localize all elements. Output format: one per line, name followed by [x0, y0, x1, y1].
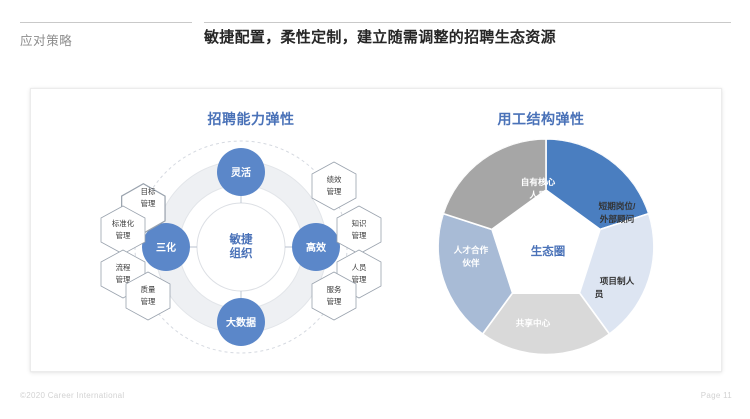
segment-talent-partner-label-2: 伙伴 — [462, 257, 480, 268]
agility-capability-diagram: 敏捷 组织 灵活 高效 大数据 三化 目标 管理 标准化 管理 — [86, 131, 396, 363]
content-card: 招聘能力弹性 用工结构弹性 敏捷 组织 灵活 高效 大数据 — [30, 88, 722, 372]
core-label-line1: 敏捷 — [229, 232, 253, 246]
hexagon-left-2-line2: 管理 — [116, 231, 131, 240]
hexagon-left-1-line2: 管理 — [141, 199, 156, 208]
hexagon-right-1-line1: 绩效 — [327, 175, 342, 184]
hexagon-left-2-line1: 标准化 — [112, 219, 135, 228]
hexagon-right-3-line1: 人员 — [352, 263, 367, 272]
segment-talent-partner-label-1: 人才合作 — [454, 244, 489, 255]
header-rule-left — [20, 22, 192, 23]
bubble-top-label: 灵活 — [231, 166, 251, 179]
hexagon-right-1-line2: 管理 — [327, 187, 342, 196]
page-header: 应对策略 敏捷配置，柔性定制，建立随需调整的招聘生态资源 — [0, 0, 750, 70]
hexagon-right-1[interactable] — [312, 162, 356, 210]
header-kicker: 应对策略 — [20, 30, 72, 49]
segment-project-staff-label-2: 员 — [595, 289, 604, 299]
core-circle — [197, 203, 285, 291]
core-label-line2: 组织 — [230, 246, 253, 260]
segment-short-term-label-2: 外部顾问 — [599, 213, 634, 224]
right-panel-title: 用工结构弹性 — [431, 109, 651, 129]
workforce-structure-chart: 自有核心 人员 短期岗位/ 外部顾问 项目制人 员 共享中心 人才合作 伙伴 生… — [421, 131, 671, 363]
bubble-bottom-label: 大数据 — [226, 316, 256, 329]
hexagon-left-1-line1: 目标 — [141, 187, 156, 196]
hexagon-right-2[interactable] — [337, 206, 381, 254]
bubble-left-label: 三化 — [156, 241, 176, 254]
footer-copyright: ©2020 Career International — [20, 391, 124, 400]
hexagon-left-4-line2: 管理 — [141, 297, 156, 306]
ecosystem-center-label: 生态圈 — [531, 244, 566, 258]
left-panel-title: 招聘能力弹性 — [141, 109, 361, 129]
hexagon-left-4-line1: 质量 — [141, 285, 156, 294]
footer-page-number: Page 11 — [701, 391, 732, 400]
segment-shared-center-label-1: 共享中心 — [516, 317, 551, 328]
hexagon-right-2-line2: 管理 — [352, 231, 367, 240]
header-rule-right — [204, 22, 731, 23]
hexagon-right-2-line1: 知识 — [352, 219, 367, 228]
segment-core-staff-label-2: 人员 — [529, 189, 547, 200]
header-headline: 敏捷配置，柔性定制，建立随需调整的招聘生态资源 — [204, 26, 556, 47]
hexagon-right-4-line1: 服务 — [327, 285, 342, 294]
hexagon-right-4-line2: 管理 — [327, 297, 342, 306]
segment-core-staff-label-1: 自有核心 — [521, 176, 556, 187]
segment-short-term-label-1: 短期岗位/ — [599, 200, 636, 211]
hexagon-left-3-line1: 流程 — [116, 263, 131, 272]
bubble-right-label: 高效 — [306, 241, 327, 254]
segment-project-staff-label-1: 项目制人 — [600, 275, 635, 286]
